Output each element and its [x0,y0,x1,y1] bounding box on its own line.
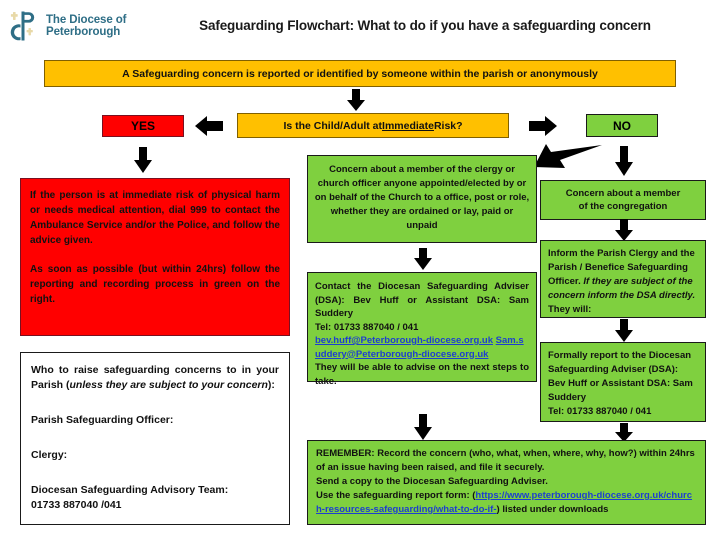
node-concern-about-clergy-or-officer: Concern about a member of the clergy or … [307,155,537,243]
page-title: Safeguarding Flowchart: What to do if yo… [145,18,705,33]
remember-line-3: Use the safeguarding report form: (https… [316,489,697,517]
diocese-cross-keys-icon [10,9,42,43]
node-inform-parish-clergy: Inform the Parish Clergy and the Parish … [540,240,706,318]
node-remember-record-concern: REMEMBER: Record the concern (who, what,… [307,440,706,525]
inform-text-post: They will: [548,304,591,315]
congregation-line-2: of the congregation [579,200,668,214]
congregation-line-1: Concern about a member [566,187,681,201]
logo-line-2: Peterborough [46,26,126,39]
diocese-logo: The Diocese of Peterborough [10,8,138,44]
node-yes: YES [102,115,184,137]
emergency-paragraph-2: As soon as possible (but within 24hrs) f… [30,262,280,307]
decision-text-underlined: Immediate [382,120,434,132]
arrow-yes-to-emergency [133,147,153,173]
arrow-inform-to-formal-report [614,319,634,342]
remember-line-3-pre: Use the safeguarding report form: ( [316,490,475,501]
contacts-intro: Who to raise safeguarding concerns to in… [31,363,279,393]
node-no: NO [586,114,658,137]
emergency-paragraph-1: If the person is at immediate risk of ph… [30,188,280,248]
arrow-congregation-to-inform [614,219,634,241]
decision-text-post: Risk? [434,120,463,132]
remember-line-2: Send a copy to the Diocesan Safeguarding… [316,475,697,489]
arrow-decision-to-yes [195,114,223,138]
logo-line-1: The Diocese of [46,14,126,27]
remember-line-1: REMEMBER: Record the concern (who, what,… [316,447,697,475]
arrow-decision-to-no [529,114,557,138]
node-formal-report-to-dsa: Formally report to the Diocesan Safeguar… [540,342,706,422]
contacts-parish-safeguarding-officer: Parish Safeguarding Officer: [31,413,279,428]
dsa-contact-footer: They will be able to advise on the next … [315,361,529,388]
formal-report-body: Formally report to the Diocesan Safeguar… [548,349,698,405]
contacts-clergy: Clergy: [31,448,279,463]
node-contact-dsa: Contact the Diocesan Safeguarding Advise… [307,272,537,382]
arrow-dsa-contact-to-remember [412,414,434,440]
node-concern-about-congregation-member: Concern about a member of the congregati… [540,180,706,220]
arrow-no-to-congregation [614,146,634,176]
contacts-intro-post: ): [268,379,275,391]
contacts-dsat: Diocesan Safeguarding Advisory Team: [31,483,279,498]
arrow-clergy-concern-to-dsa-contact [412,248,434,270]
contacts-intro-emphasis: unless they are subject to your concern [70,379,268,391]
dsa-contact-body: Contact the Diocesan Safeguarding Advise… [315,280,529,321]
formal-report-telephone: Tel: 01733 887040 / 041 [548,405,698,419]
remember-line-3-post: ) listed under downloads [497,504,609,515]
flowchart-page: The Diocese of Peterborough Safeguarding… [0,0,720,539]
node-decision-immediate-risk: Is the Child/Adult at Immediate Risk? [237,113,509,138]
node-emergency-999-instructions: If the person is at immediate risk of ph… [20,178,290,336]
dsa-email-bev-huff-link[interactable]: bev.huff@Peterborough-diocese.org.uk [315,335,493,346]
arrow-intake-to-decision [346,89,366,111]
logo-wordmark: The Diocese of Peterborough [46,14,126,39]
arrow-no-to-clergy-concern [532,143,602,175]
decision-text-pre: Is the Child/Adult at [283,120,382,132]
node-intake-concern-reported: A Safeguarding concern is reported or id… [44,60,676,87]
node-parish-contacts: Who to raise safeguarding concerns to in… [20,352,290,525]
contacts-dsat-telephone: 01733 887040 /041 [31,498,279,513]
dsa-contact-telephone: Tel: 01733 887040 / 041 [315,321,529,335]
